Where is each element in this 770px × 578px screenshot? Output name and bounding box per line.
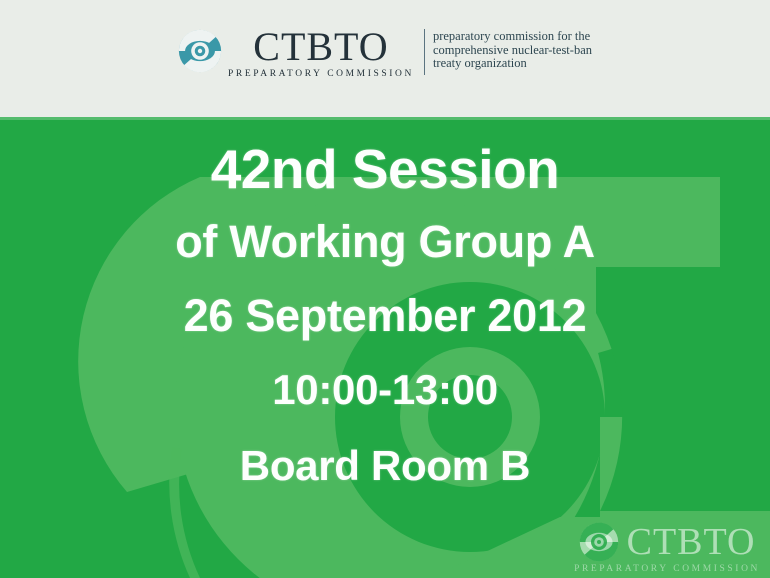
tagline-line-1: preparatory commission for the: [433, 30, 592, 44]
tagline-line-3: treaty organization: [433, 57, 592, 71]
working-group-line: of Working Group A: [175, 204, 595, 280]
ctbto-tagline: preparatory commission for the comprehen…: [433, 30, 592, 71]
wordmark-block: CTBTO PREPARATORY COMMISSION: [228, 27, 414, 80]
title-slide: CTBTO PREPARATORY COMMISSION preparatory…: [0, 0, 770, 578]
ctbto-wordmark: CTBTO: [253, 27, 388, 67]
logo-divider: [424, 29, 425, 75]
date-line: 26 September 2012: [184, 280, 587, 352]
slide-text-block: 42nd Session of Working Group A 26 Septe…: [0, 117, 770, 578]
header-band: CTBTO PREPARATORY COMMISSION preparatory…: [0, 0, 770, 117]
ctbto-eye-logo-icon: [178, 29, 222, 73]
room-line: Board Room B: [240, 428, 530, 504]
ctbto-logo-lockup: CTBTO PREPARATORY COMMISSION preparatory…: [178, 27, 592, 80]
logo-left-group: CTBTO PREPARATORY COMMISSION: [178, 27, 414, 80]
time-line: 10:00-13:00: [272, 352, 498, 428]
tagline-line-2: comprehensive nuclear-test-ban: [433, 44, 592, 58]
ctbto-wordmark-subtitle: PREPARATORY COMMISSION: [228, 68, 414, 80]
session-title-line: 42nd Session: [211, 134, 560, 204]
